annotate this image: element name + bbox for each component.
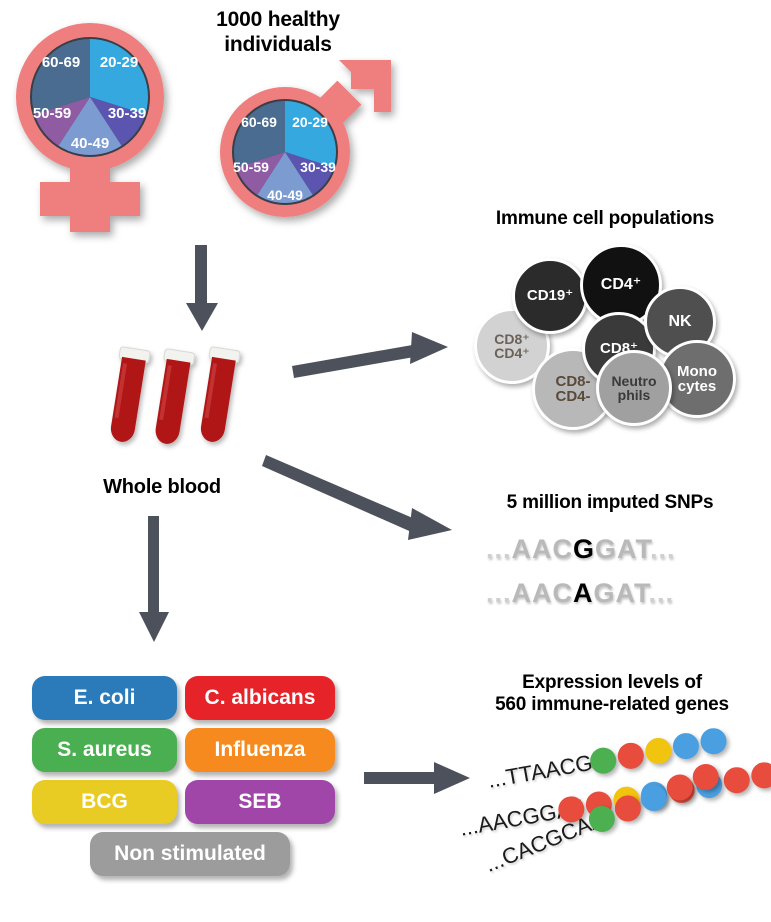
expression-heading-line2: 560 immune-related genes [456, 694, 768, 716]
expression-bead [749, 760, 771, 790]
expression-strands: ...TTAACGG ...AACGGAT ...CACGCAA [460, 732, 771, 912]
stimulus-e-coli[interactable]: E. coli [32, 676, 177, 720]
snp-sequence-row: ...AACGGAT... [486, 534, 676, 565]
snps-heading: 5 million imputed SNPs [460, 492, 760, 514]
expression-bead [616, 741, 646, 771]
whole-blood-label: Whole blood [82, 476, 242, 500]
immune-heading: Immune cell populations [450, 208, 760, 230]
blood-tube-3 [196, 347, 240, 445]
pie-label-50-59: 50-59 [33, 105, 71, 122]
pie-label-40-49: 40-49 [71, 135, 109, 152]
expression-heading: Expression levels of 560 immune-related … [456, 672, 768, 717]
snp-sequence-row: ...AACAGAT... [486, 578, 674, 609]
stimulus-c-albicans[interactable]: C. albicans [185, 676, 335, 720]
stimulus-bcg[interactable]: BCG [32, 780, 177, 824]
male-symbol: 20-29 30-39 40-49 50-59 60-69 [205, 28, 420, 243]
pie-label-30-39: 30-39 [300, 159, 336, 175]
pie-label-60-69: 60-69 [42, 54, 80, 71]
snp-sequences: ...AACGGAT... ...AACAGAT... [478, 534, 758, 622]
pie-label-40-49: 40-49 [267, 187, 303, 203]
expression-bead [643, 736, 673, 766]
expression-bead [722, 765, 752, 795]
stimuli-panel: E. coli C. albicans S. aureus Influenza … [32, 676, 342, 896]
stimulus-s-aureus[interactable]: S. aureus [32, 728, 177, 772]
pie-label-30-39: 30-39 [108, 105, 146, 122]
pie-label-50-59: 50-59 [233, 159, 269, 175]
stimulus-non-stimulated[interactable]: Non stimulated [90, 832, 290, 876]
arrow-blood-to-immune [292, 322, 452, 382]
immune-cell-cd19p: CD19⁺ [512, 258, 588, 334]
expression-bead [671, 731, 701, 761]
blood-tube-1 [106, 347, 150, 445]
blood-tube-2 [151, 349, 195, 447]
immune-cell-cluster: CD8⁺ CD4⁺ CD8- CD4- CD19⁺ CD4⁺ CD8⁺ NK M… [456, 244, 756, 414]
pie-label-20-29: 20-29 [100, 54, 138, 71]
expression-heading-line1: Expression levels of [456, 672, 768, 694]
immune-cell-neutrophils: Neutro phils [596, 350, 672, 426]
pie-label-60-69: 60-69 [241, 114, 277, 130]
stimulus-influenza[interactable]: Influenza [185, 728, 335, 772]
arrow-cohort-to-blood [182, 245, 222, 335]
diagram-canvas: 1000 healthy individuals [0, 0, 771, 922]
arrow-stimuli-to-expression [364, 758, 474, 802]
blood-tubes [96, 336, 286, 466]
arrow-blood-to-snps [266, 450, 456, 550]
stimulus-seb[interactable]: SEB [185, 780, 335, 824]
arrow-blood-to-stimuli [134, 516, 174, 646]
female-symbol: 20-29 30-39 40-49 50-59 60-69 [8, 14, 198, 239]
pie-label-20-29: 20-29 [292, 114, 328, 130]
expression-bead [698, 726, 728, 756]
